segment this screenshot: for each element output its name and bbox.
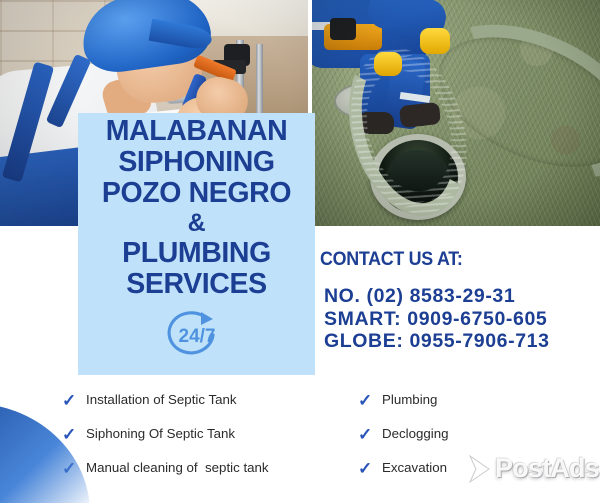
service-label: Installation of Septic Tank	[86, 392, 237, 408]
contact-number-list: NO. (02) 8583-29-31 SMART: 0909-6750-605…	[320, 285, 598, 353]
contact-number-globe[interactable]: GLOBE: 0955-7906-713	[324, 330, 598, 353]
headline-line-6: SERVICES	[126, 269, 266, 300]
headline-line-4: &	[188, 209, 206, 238]
check-icon: ✓	[62, 392, 86, 409]
service-label: Manual cleaning of septic tank	[86, 460, 269, 476]
list-item: ✓ Plumbing	[358, 383, 588, 417]
headline-panel: MALABANAN SIPHONING POZO NEGRO & PLUMBIN…	[78, 113, 315, 375]
service-label: Plumbing	[382, 392, 437, 408]
badge-24-7: 24/7	[163, 307, 231, 361]
headline-line-3: POZO NEGRO	[102, 178, 291, 209]
check-icon: ✓	[62, 426, 86, 443]
headline-line-1: MALABANAN	[106, 116, 288, 147]
list-item: ✓ Excavation	[358, 451, 588, 485]
service-label: Declogging	[382, 426, 449, 442]
check-icon: ✓	[62, 460, 86, 477]
list-item: ✓ Siphoning Of Septic Tank	[62, 417, 332, 451]
contact-number-smart[interactable]: SMART: 0909-6750-605	[324, 308, 598, 331]
list-item: ✓ Manual cleaning of septic tank	[62, 451, 332, 485]
services-list-left: ✓ Installation of Septic Tank ✓ Siphonin…	[62, 383, 332, 485]
circular-arrow-icon: 24/7	[163, 307, 231, 361]
check-icon: ✓	[358, 460, 382, 477]
advertisement-poster: MALABANAN SIPHONING POZO NEGRO & PLUMBIN…	[0, 0, 600, 503]
headline-line-5: PLUMBING	[122, 238, 271, 269]
septic-siphoning-photo	[312, 0, 600, 226]
service-label: Siphoning Of Septic Tank	[86, 426, 235, 442]
services-list-right: ✓ Plumbing ✓ Declogging ✓ Excavation	[358, 383, 588, 485]
check-icon: ✓	[358, 426, 382, 443]
contact-heading: CONTACT US AT:	[320, 249, 581, 270]
badge-24-7-text: 24/7	[178, 326, 215, 347]
service-label: Excavation	[382, 460, 447, 476]
contact-number-landline[interactable]: NO. (02) 8583-29-31	[324, 285, 598, 308]
headline-line-2: SIPHONING	[118, 147, 274, 178]
check-icon: ✓	[358, 392, 382, 409]
list-item: ✓ Installation of Septic Tank	[62, 383, 332, 417]
contact-block: CONTACT US AT: NO. (02) 8583-29-31 SMART…	[320, 249, 598, 353]
list-item: ✓ Declogging	[358, 417, 588, 451]
photo-vignette	[312, 0, 600, 226]
